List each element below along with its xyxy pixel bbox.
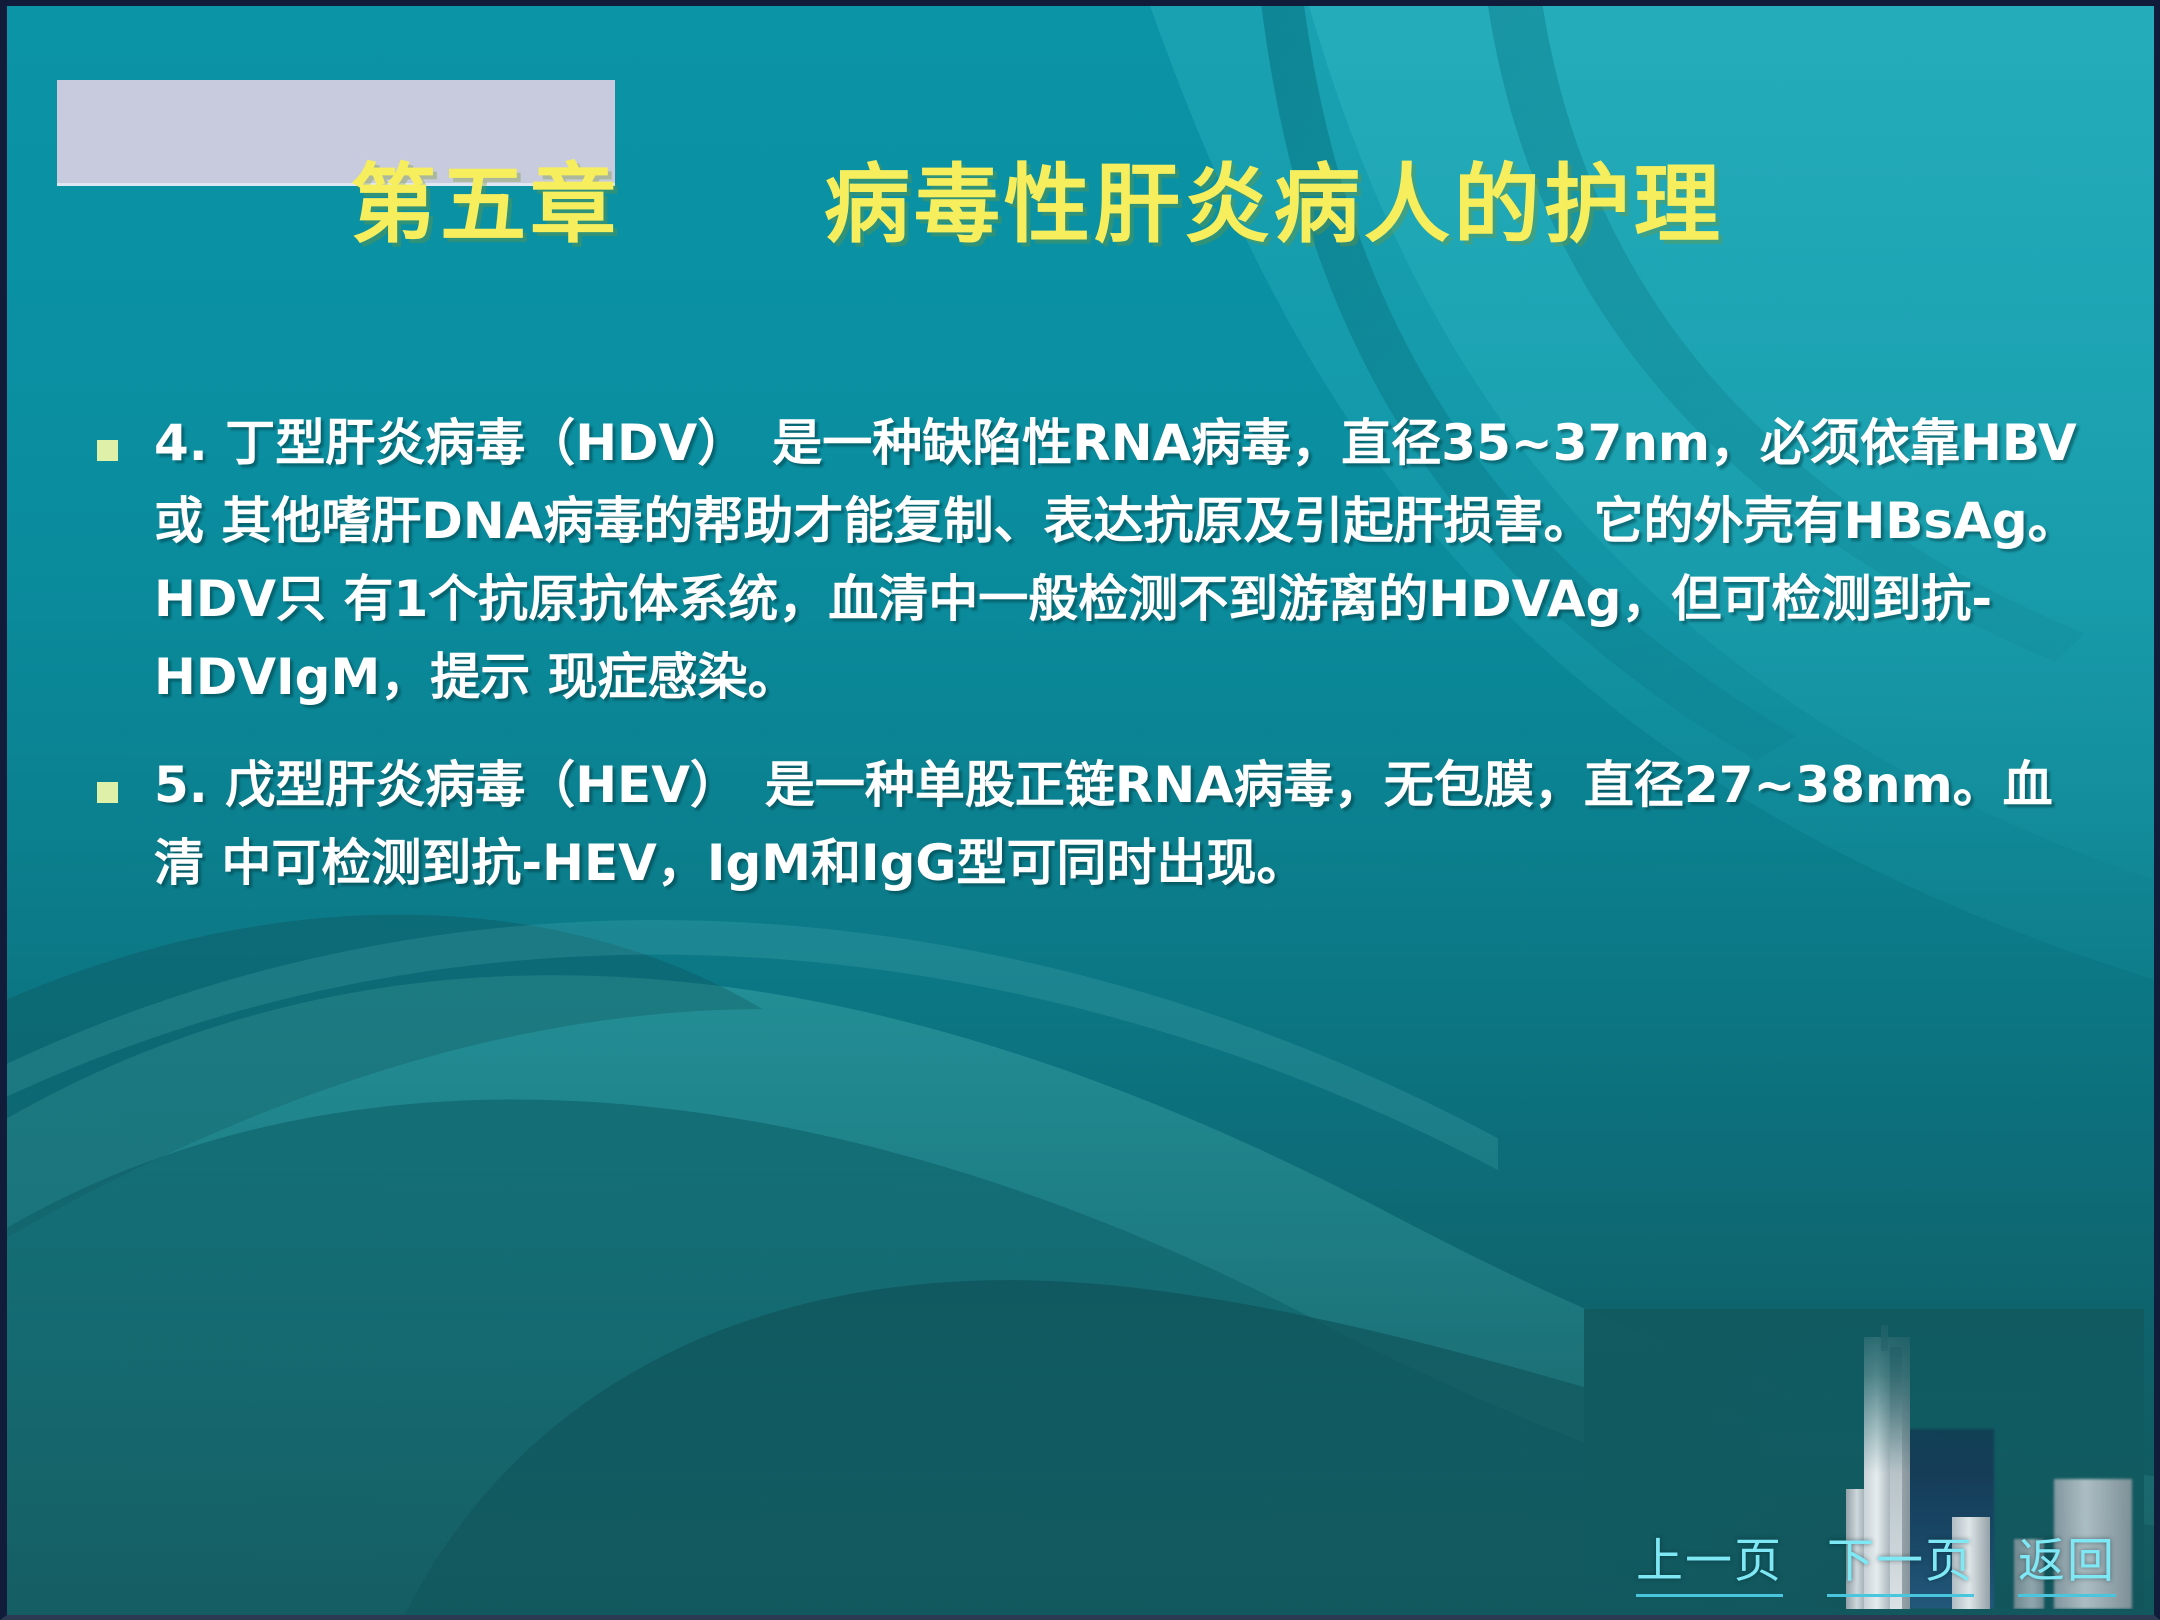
square-bullet-icon (97, 440, 118, 461)
prev-page-link[interactable]: 上一页 (1636, 1522, 1783, 1597)
slide-title: 第五章 病毒性肝炎病人的护理 (7, 134, 2067, 259)
back-link[interactable]: 返回 (2018, 1522, 2116, 1597)
presentation-slide: 第五章 病毒性肝炎病人的护理 4. 丁型肝炎病毒（HDV） 是一种缺陷性RNA病… (0, 0, 2160, 1620)
bullet-item: 5. 戊型肝炎病毒（HEV） 是一种单股正链RNA病毒，无包膜，直径27~38n… (97, 746, 2087, 902)
slide-navigation: 上一页 下一页 返回 (1636, 1522, 2116, 1597)
bullet-text: 5. 戊型肝炎病毒（HEV） 是一种单股正链RNA病毒，无包膜，直径27~38n… (154, 746, 2087, 902)
bullet-item: 4. 丁型肝炎病毒（HDV） 是一种缺陷性RNA病毒，直径35~37nm，必须依… (97, 404, 2087, 716)
bullet-text: 4. 丁型肝炎病毒（HDV） 是一种缺陷性RNA病毒，直径35~37nm，必须依… (154, 404, 2087, 716)
square-bullet-icon (97, 782, 118, 803)
next-page-link[interactable]: 下一页 (1827, 1522, 1974, 1597)
slide-body: 4. 丁型肝炎病毒（HDV） 是一种缺陷性RNA病毒，直径35~37nm，必须依… (97, 404, 2087, 932)
